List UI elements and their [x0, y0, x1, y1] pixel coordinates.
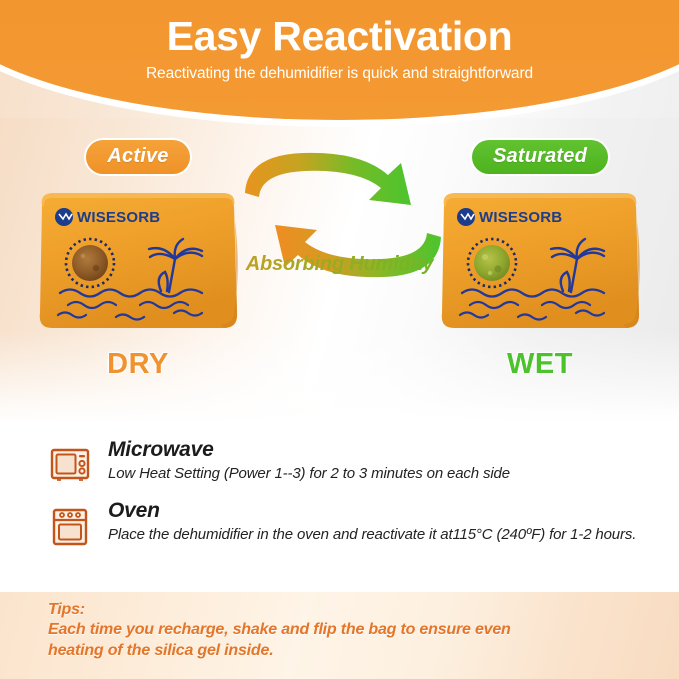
comparison-section: Active	[0, 140, 679, 410]
header-content: Easy Reactivation Reactivating the dehum…	[0, 0, 679, 83]
instructions-section: Microwave Low Heat Setting (Power 1--3) …	[0, 438, 679, 560]
tips-line-2: heating of the silica gel inside.	[48, 641, 679, 661]
product-bag-wet: WISESORB	[430, 187, 650, 335]
tips-line-1: Each time you recharge, shake and flip t…	[48, 620, 679, 640]
instruction-text-microwave: Microwave Low Heat Setting (Power 1--3) …	[108, 438, 679, 483]
instruction-row-microwave: Microwave Low Heat Setting (Power 1--3) …	[0, 438, 679, 488]
instruction-body-oven: Place the dehumidifier in the oven and r…	[108, 525, 659, 544]
state-label-dry: DRY	[8, 348, 268, 381]
instruction-title-microwave: Microwave	[108, 438, 659, 462]
instruction-row-oven: Oven Place the dehumidifier in the oven …	[0, 499, 679, 549]
svg-text:WISESORB: WISESORB	[479, 209, 562, 226]
header-banner: Easy Reactivation Reactivating the dehum…	[0, 0, 679, 120]
instruction-title-oven: Oven	[108, 499, 659, 523]
microwave-icon	[48, 444, 92, 488]
instruction-body-microwave: Low Heat Setting (Power 1--3) for 2 to 3…	[108, 464, 659, 483]
bag-illustration-wet: WISESORB	[430, 187, 650, 335]
product-infographic: Easy Reactivation Reactivating the dehum…	[0, 0, 679, 679]
status-badge-active: Active	[86, 140, 189, 174]
oven-icon	[48, 505, 92, 549]
page-title: Easy Reactivation	[0, 0, 679, 58]
arrow-absorbing-right	[245, 153, 411, 205]
tips-heading: Tips:	[48, 600, 679, 620]
svg-text:WISESORB: WISESORB	[77, 209, 160, 226]
status-badge-saturated: Saturated	[472, 140, 608, 174]
instruction-text-oven: Oven Place the dehumidifier in the oven …	[108, 499, 679, 544]
state-label-wet: WET	[410, 348, 670, 381]
tips-content: Tips: Each time you recharge, shake and …	[0, 592, 679, 661]
page-subtitle: Reactivating the dehumidifier is quick a…	[0, 58, 679, 83]
tips-section: Tips: Each time you recharge, shake and …	[0, 592, 679, 679]
comparison-side-wet: Saturated	[410, 140, 670, 381]
